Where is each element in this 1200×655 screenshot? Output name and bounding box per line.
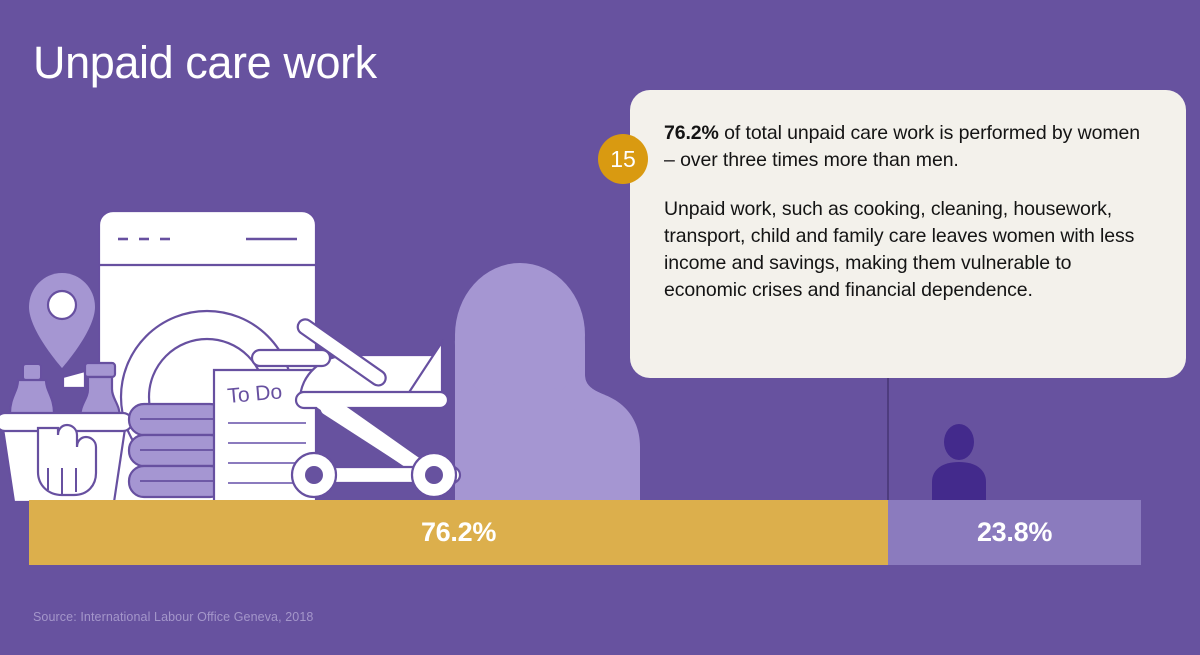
source-note: Source: International Labour Office Gene… bbox=[33, 610, 313, 624]
folded-towels-icon bbox=[129, 404, 225, 497]
callout-lede-rest: of total unpaid care work is performed b… bbox=[664, 122, 1140, 171]
callout-lede-stat: 76.2% bbox=[664, 122, 719, 144]
bar-segment-women: 76.2% bbox=[29, 500, 888, 565]
bar-label-men: 23.8% bbox=[888, 517, 1141, 548]
callout-badge: 15 bbox=[598, 134, 648, 184]
infographic-canvas: Unpaid care work bbox=[0, 0, 1200, 655]
location-pin-icon bbox=[29, 273, 95, 368]
callout-lede: 76.2% of total unpaid care work is perfo… bbox=[664, 120, 1152, 174]
bar-label-women: 76.2% bbox=[29, 517, 888, 548]
cleaning-basket-icon bbox=[0, 413, 132, 502]
stacked-bar-chart: 76.2% 23.8% bbox=[29, 500, 1141, 565]
woman-silhouette-icon bbox=[455, 263, 640, 502]
man-silhouette-icon bbox=[928, 424, 990, 500]
todo-label: To Do bbox=[226, 380, 283, 408]
callout-card: 76.2% of total unpaid care work is perfo… bbox=[630, 90, 1186, 378]
callout-connector-line bbox=[887, 378, 889, 500]
illustration-household-chores: To Do bbox=[0, 185, 640, 510]
page-title: Unpaid care work bbox=[33, 39, 377, 86]
bar-segment-men: 23.8% bbox=[888, 500, 1141, 565]
callout-body: Unpaid work, such as cooking, cleaning, … bbox=[664, 196, 1152, 304]
callout-badge-number: 15 bbox=[610, 146, 636, 173]
